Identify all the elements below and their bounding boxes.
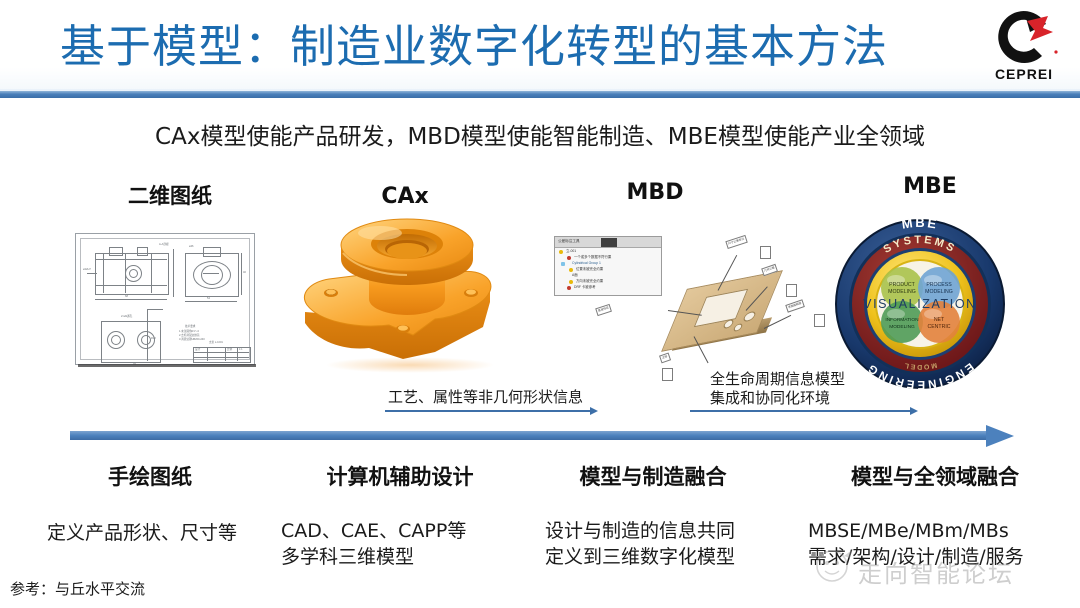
mbe-wheel-icon: PRODUCT MODELING PROCESS MODELING INFORM… (828, 218, 1013, 390)
annotation-arrow-2 (690, 406, 920, 416)
mbd-tag: 表面粗糙度 (785, 299, 804, 312)
stage-name-2: 模型与制造融合 (528, 461, 778, 491)
mbd-window-active-tab (601, 238, 617, 247)
mbe-quadrant-label: NET (934, 317, 945, 323)
mbe-quadrant-label: PROCESS (926, 282, 952, 288)
stage-name-1: 计算机辅助设计 (265, 461, 535, 491)
mbe-quadrant-label: MODELING (925, 289, 953, 295)
stage-description-2: 设计与制造的信息共同 定义到三维数字化模型 (545, 518, 805, 570)
slide-header: 基于模型：制造业数字化转型的基本方法 (0, 0, 1080, 94)
header-accent-bar (0, 91, 1080, 98)
stage-description-0: 定义产品形状、尺寸等 (22, 520, 262, 546)
page-title: 基于模型：制造业数字化转型的基本方法 (60, 14, 940, 80)
stage-description-1: CAD、CAE、CAPP等 多学科三维模型 (281, 518, 531, 570)
progression-arrow-shaft (70, 431, 990, 440)
annotation-cax-to-mbd: 工艺、属性等非几何形状信息 (388, 388, 583, 407)
ceprei-logo-icon (980, 8, 1068, 66)
image-mbe-wheel: PRODUCT MODELING PROCESS MODELING INFORM… (828, 218, 1013, 390)
mbe-center-label: VISUALIZATION (863, 297, 977, 311)
mbd-tree-item: DRF 卡被参考 (574, 285, 595, 290)
mbe-outer-top-label: MBE (901, 218, 940, 232)
mbd-tree-item: 立-001 (566, 249, 576, 254)
annotation-arrow-1 (385, 406, 600, 416)
annotation-mbd-to-mbe: 全生命周期信息模型 集成和协同化环境 (710, 370, 845, 408)
progression-arrow (70, 425, 1030, 447)
mbd-tool-window: 公差标注工具 立-001 一个或多个数据不符行果 Cylindrical Gro… (554, 236, 662, 296)
mbd-tag-symbol (814, 314, 825, 327)
mbe-quadrant-label: CENTRIC (927, 324, 950, 330)
slide-subtitle: CAx模型使能产品研发，MBD模型使能智能制造、MBE模型使能产业全领域 (0, 117, 1080, 151)
footer-reference: 参考：与丘水平交流 (10, 578, 145, 599)
mbd-tree-item: 一个或多个数据不符行果 (574, 255, 611, 260)
ceprei-logo-text: CEPREI (980, 66, 1068, 82)
mbe-quadrant-label: MODELING (889, 324, 915, 330)
stage-description-3: MBSE/MBe/MBm/MBs 需求/架构/设计/制造/服务 (808, 518, 1070, 570)
column-heading-mbd: MBD (560, 180, 750, 205)
cax-3d-part-icon (285, 207, 535, 382)
ceprei-logo: CEPREI (980, 8, 1068, 86)
mbd-tree-item: 位置未被完全约果 (576, 267, 603, 272)
column-heading-mbe: MBE (835, 174, 1025, 199)
mbe-quadrant-label: MODELING (888, 289, 916, 295)
mbd-tag: 尺寸公差标注 (725, 235, 747, 249)
drawing-frame: ø22H7 68 A-A剖视 54 40 ø46 2×ø9通孔 (80, 238, 250, 360)
mbd-tag: 基准特征 (595, 304, 612, 316)
mbd-window-title: 公差标注工具 (558, 239, 580, 244)
image-cax-3d-part (285, 207, 535, 382)
mbd-tree-item: 方向未被完全约果 (576, 279, 603, 284)
drawing-shadow (78, 364, 256, 367)
cax-shadow (325, 357, 495, 373)
mbd-tag: 注释 (659, 353, 671, 363)
column-heading-cax: CAx (310, 184, 500, 209)
image-mbd-model: 公差标注工具 立-001 一个或多个数据不符行果 Cylindrical Gro… (548, 232, 838, 382)
mbd-tag-symbol (662, 368, 673, 381)
slide-root: 基于模型：制造业数字化转型的基本方法 CEPREI CAx模型使能产品研发，MB… (0, 0, 1080, 608)
stage-name-0: 手绘图纸 (35, 461, 265, 491)
mbe-quadrant-label: INFORMATION (885, 317, 919, 323)
progression-arrow-head (986, 425, 1014, 447)
mbe-quadrant-label: PRODUCT (889, 282, 915, 288)
column-heading-2d: 二维图纸 (70, 180, 270, 210)
mbd-tag-symbol (760, 246, 771, 259)
stage-name-3: 模型与全领域融合 (800, 461, 1070, 491)
mbd-tree-item: Cylindrical Group 1 (572, 261, 601, 266)
mbd-tag-symbol (786, 284, 797, 297)
mbd-tree-item: A面 (572, 273, 578, 278)
image-2d-drawing: ø22H7 68 A-A剖视 54 40 ø46 2×ø9通孔 (75, 233, 255, 365)
